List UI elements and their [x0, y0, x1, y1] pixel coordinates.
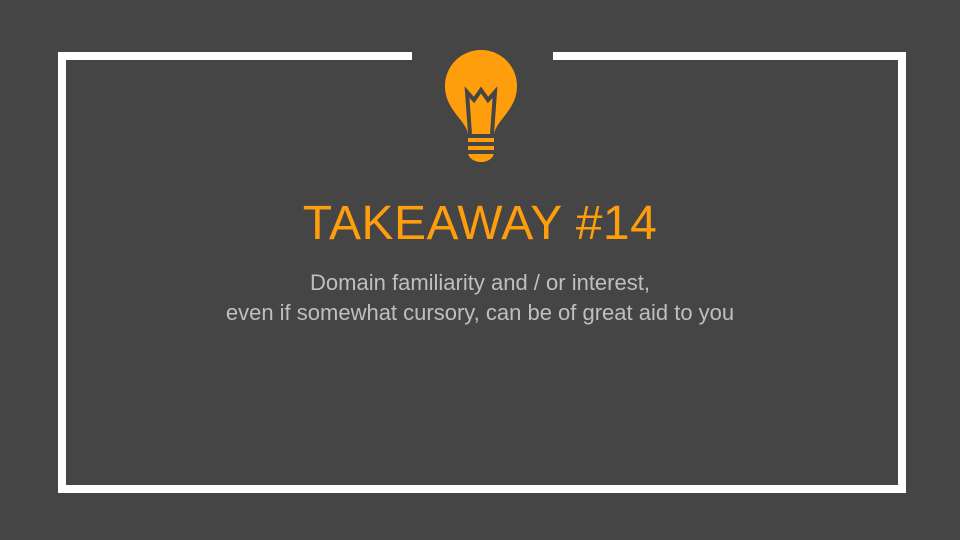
- frame-border-top-left: [58, 52, 412, 60]
- lightbulb-icon: [440, 46, 522, 166]
- subtitle: Domain familiarity and / or interest, ev…: [0, 268, 960, 328]
- subtitle-line-2: even if somewhat cursory, can be of grea…: [0, 298, 960, 328]
- subtitle-line-1: Domain familiarity and / or interest,: [0, 268, 960, 298]
- frame-border-bottom: [58, 485, 906, 493]
- page-title: TAKEAWAY #14: [0, 196, 960, 252]
- frame-border-top-right: [553, 52, 906, 60]
- slide-content: TAKEAWAY #14 Domain familiarity and / or…: [0, 196, 960, 328]
- slide-canvas: TAKEAWAY #14 Domain familiarity and / or…: [0, 0, 960, 540]
